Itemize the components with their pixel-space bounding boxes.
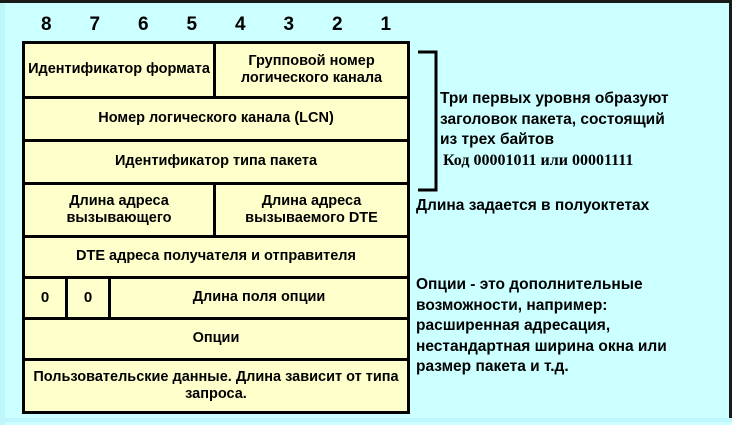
table-row: Номер логического канала (LCN) xyxy=(25,99,407,142)
bit-number: 6 xyxy=(119,11,168,39)
field-packet-type-identifier: Идентификатор типа пакета xyxy=(25,142,407,182)
bit-number: 8 xyxy=(22,11,71,39)
table-row: Идентификатор формата Групповой номер ло… xyxy=(25,44,407,99)
table-row: Опции xyxy=(25,320,407,361)
bit-number: 2 xyxy=(313,11,362,39)
field-reserved-bit-8: 0 xyxy=(25,279,68,317)
field-logical-channel-number: Номер логического канала (LCN) xyxy=(25,99,407,139)
bit-ruler: 8 7 6 5 4 3 2 1 xyxy=(22,11,410,39)
diagram-canvas: 8 7 6 5 4 3 2 1 Идентификатор формата Гр… xyxy=(0,0,732,422)
annotation-options-note: Опции - это дополнительные возможности, … xyxy=(416,275,728,378)
table-row: DTE адреса получателя и отправителя xyxy=(25,238,407,279)
field-user-data: Пользовательские данные. Длина зависит о… xyxy=(25,361,407,411)
annotation-header-note: Три первых уровня образуют заголовок пак… xyxy=(440,89,732,151)
field-options: Опции xyxy=(25,320,407,358)
bit-number: 3 xyxy=(265,11,314,39)
table-row: Идентификатор типа пакета xyxy=(25,142,407,185)
field-dte-addresses: DTE адреса получателя и отправителя xyxy=(25,238,407,276)
field-logical-channel-group: Групповой номер логического канала xyxy=(216,44,407,96)
header-span-bracket xyxy=(417,50,439,192)
packet-structure-table: Идентификатор формата Групповой номер ло… xyxy=(22,41,410,414)
bit-number: 1 xyxy=(362,11,411,39)
field-called-dte-address-length: Длина адреса вызываемого DTE xyxy=(216,185,407,235)
table-row: Длина адреса вызывающего Длина адреса вы… xyxy=(25,185,407,238)
field-calling-address-length: Длина адреса вызывающего xyxy=(25,185,216,235)
field-format-identifier: Идентификатор формата xyxy=(25,44,216,96)
bottom-margin-strip xyxy=(0,418,732,422)
annotation-code-note: Код 00001011 или 00001111 xyxy=(443,151,732,172)
field-option-field-length: Длина поля опции xyxy=(111,279,407,317)
table-row: 0 0 Длина поля опции xyxy=(25,279,407,320)
bit-number: 4 xyxy=(216,11,265,39)
left-margin-strip xyxy=(0,3,5,425)
annotation-length-note: Длина задается в полуоктетах xyxy=(416,196,726,217)
table-row: Пользовательские данные. Длина зависит о… xyxy=(25,361,407,411)
bit-number: 5 xyxy=(168,11,217,39)
field-reserved-bit-7: 0 xyxy=(68,279,111,317)
bit-number: 7 xyxy=(71,11,120,39)
